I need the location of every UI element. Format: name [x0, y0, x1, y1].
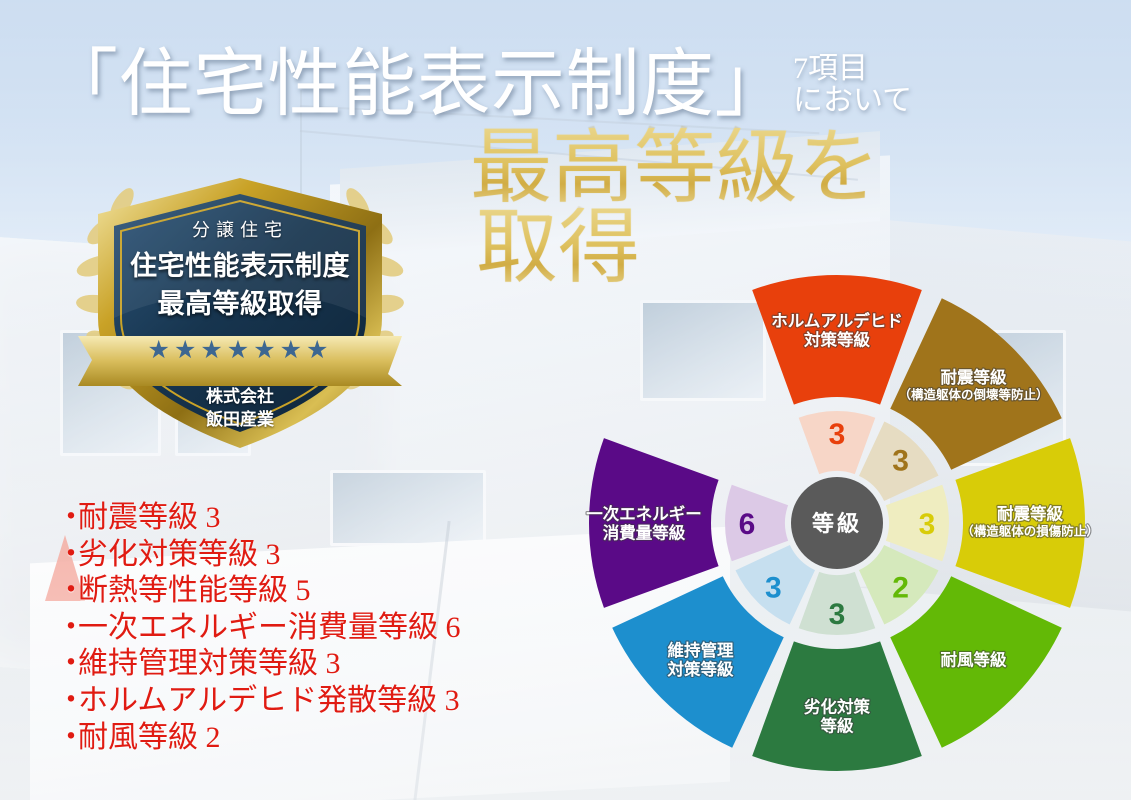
gold-subtitle: 最高等級を 取得 — [470, 128, 940, 289]
wheel-segment-label: 対策等級 — [803, 330, 871, 350]
list-item-label: 劣化対策等級 3 — [78, 538, 281, 571]
headline-item-count: 7項目 — [793, 53, 912, 85]
wheel-segment-tint — [886, 485, 949, 562]
wheel-segment-label: 維持管理 — [668, 640, 735, 660]
list-item: ・ホルムアルデヒド発散等級 3 — [56, 683, 461, 720]
wheel-segment-tint — [725, 485, 788, 562]
bullet-marker: ・ — [56, 610, 78, 647]
wheel-segment-label: （構造躯体の倒壊等防止） — [898, 387, 1048, 402]
bullet-marker: ・ — [56, 683, 78, 720]
page-title: 「住宅性能表示制度」 7項目 において — [44, 14, 924, 122]
wheel-hub-label: 等級 — [812, 511, 862, 536]
gold-subtitle-line1: 最高等級を — [470, 128, 940, 208]
wheel-segment-label: 耐震等級 — [997, 504, 1064, 524]
badge-company: 株式会社 飯田産業 — [70, 386, 410, 432]
list-item-label: ホルムアルデヒド発散等級 3 — [78, 684, 460, 717]
wheel-segment-label: 等級 — [821, 716, 855, 736]
badge-star-rating: ★★★★★★★ — [70, 338, 410, 363]
wheel-grade-number: 3 — [829, 418, 846, 451]
certification-badge: 分譲住宅 住宅性能表示制度 最高等級取得 ★★★★★★★ 株式会社 飯田産業 — [70, 168, 410, 458]
list-item: ・耐風等級 2 — [56, 720, 461, 757]
list-item-label: 維持管理対策等級 3 — [78, 647, 341, 680]
list-item-label: 耐風等級 2 — [78, 721, 221, 754]
list-item-label: 断熱等性能等級 5 — [78, 574, 311, 607]
list-item: ・耐震等級 3 — [56, 500, 461, 537]
wheel-segment-label: 一次エネルギー — [586, 504, 702, 524]
wheel-grade-number: 2 — [892, 572, 909, 605]
list-item: ・断熱等性能等級 5 — [56, 573, 461, 610]
list-item: ・維持管理対策等級 3 — [56, 646, 461, 683]
wheel-segment-label: 劣化対策 — [804, 697, 871, 717]
headline-main-text: 「住宅性能表示制度」 — [44, 48, 789, 122]
headline-side-block: 7項目 において — [793, 53, 912, 116]
grade-wheel-svg: 3332336 ホルムアルデヒド対策等級耐震等級（構造躯体の倒壊等防止）耐震等級… — [565, 268, 1110, 788]
wheel-grade-number: 3 — [919, 508, 936, 541]
list-item: ・劣化対策等級 3 — [56, 537, 461, 574]
wheel-grade-number: 3 — [892, 444, 909, 477]
bullet-marker: ・ — [56, 573, 78, 610]
badge-title-line1: 住宅性能表示制度 — [70, 244, 410, 283]
badge-company-line2: 飯田産業 — [70, 409, 410, 432]
badge-company-line1: 株式会社 — [70, 386, 410, 409]
badge-title-line2: 最高等級取得 — [70, 282, 410, 321]
wheel-grade-number: 6 — [739, 508, 756, 541]
wheel-grade-number: 3 — [829, 598, 846, 631]
wheel-grade-number: 3 — [765, 572, 782, 605]
grade-bullet-list: ・耐震等級 3 ・劣化対策等級 3 ・断熱等性能等級 5 ・一次エネルギー消費量… — [56, 500, 461, 756]
wheel-segment-label: （構造躯体の損傷防止） — [961, 524, 1099, 539]
bullet-marker: ・ — [56, 537, 78, 574]
bullet-marker: ・ — [56, 500, 78, 537]
wheel-segment-label: 耐風等級 — [940, 649, 1007, 669]
bullet-marker: ・ — [56, 646, 78, 683]
badge-top-label: 分譲住宅 — [70, 216, 410, 242]
list-item: ・一次エネルギー消費量等級 6 — [56, 610, 461, 647]
bullet-marker: ・ — [56, 720, 78, 757]
headline-suffix: において — [793, 85, 912, 117]
wheel-segment-label: 耐震等級 — [940, 367, 1007, 387]
performance-grade-wheel: 3332336 ホルムアルデヒド対策等級耐震等級（構造躯体の倒壊等防止）耐震等級… — [565, 268, 1110, 788]
list-item-label: 一次エネルギー消費量等級 6 — [78, 611, 461, 644]
list-item-label: 耐震等級 3 — [78, 501, 221, 534]
wheel-segment-label: 対策等級 — [667, 659, 735, 679]
wheel-segment-label: 消費量等級 — [603, 523, 686, 543]
wheel-segment-label: ホルムアルデヒド — [771, 311, 903, 331]
